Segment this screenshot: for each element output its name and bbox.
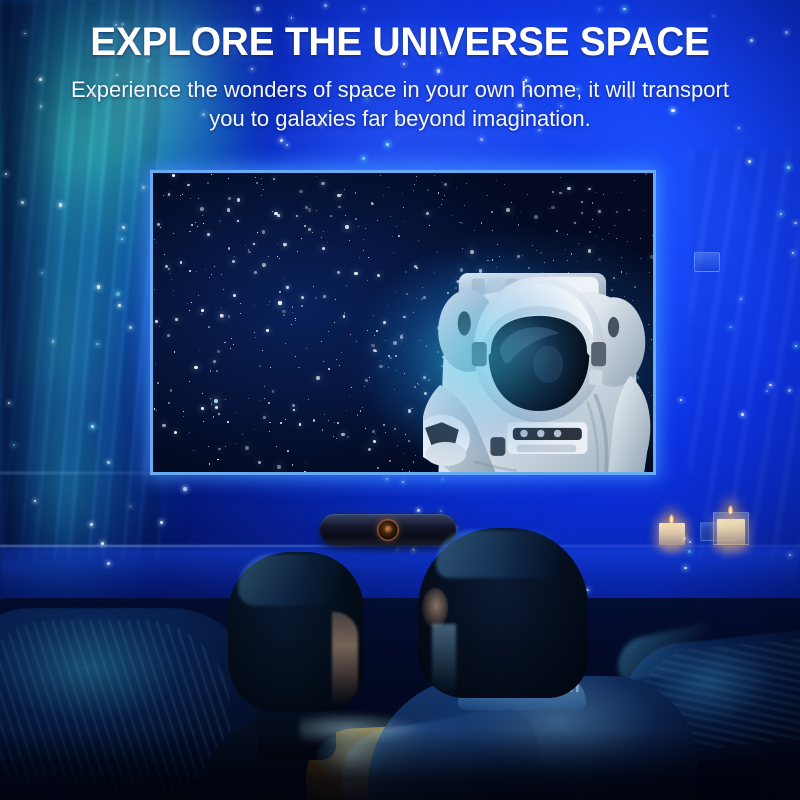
projection-screen xyxy=(150,170,656,475)
page-subtitle: Experience the wonders of space in your … xyxy=(0,76,800,133)
man-ear xyxy=(422,588,448,628)
page-title: EXPLORE THE UNIVERSE SPACE xyxy=(12,22,788,62)
foreground-sofa-and-viewers xyxy=(0,520,800,800)
drape-right xyxy=(690,150,800,560)
astronaut-glow xyxy=(372,259,579,455)
man-neck-rimlight xyxy=(432,624,456,700)
woman-face-rimlight xyxy=(332,612,358,708)
screen-frame xyxy=(150,170,656,475)
banner-text-block: EXPLORE THE UNIVERSE SPACE Experience th… xyxy=(0,22,800,133)
woman-hair-highlight xyxy=(238,554,350,606)
product-banner-scene: EXPLORE THE UNIVERSE SPACE Experience th… xyxy=(0,0,800,800)
screen-image xyxy=(153,173,653,472)
astronaut-figure xyxy=(423,245,653,472)
man-hair-highlight xyxy=(436,530,574,578)
candle-flame xyxy=(728,505,733,514)
wall-plate xyxy=(694,252,720,272)
foreground-shadow xyxy=(0,730,800,800)
